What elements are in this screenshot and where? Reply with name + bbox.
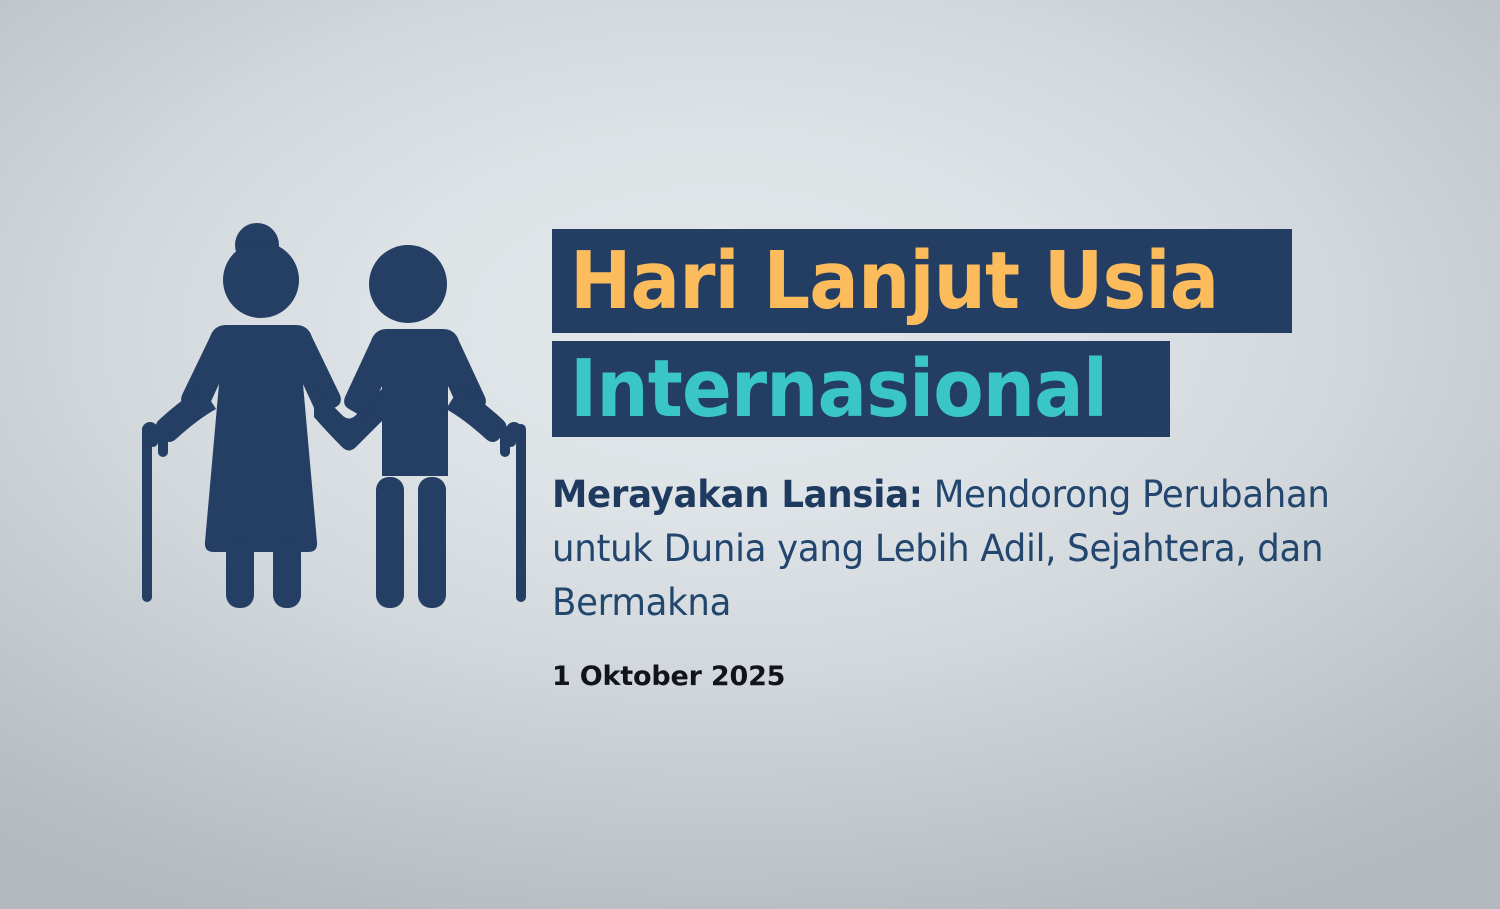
poster-canvas: Hari Lanjut Usia Internasional Merayakan… (0, 0, 1500, 909)
subtitle-text: Merayakan Lansia: Mendorong Perubahan un… (552, 468, 1349, 630)
elderly-couple-with-canes-icon (130, 215, 550, 625)
title-line-1-label: Hari Lanjut Usia (570, 242, 1218, 321)
title-banner-line-1: Hari Lanjut Usia (552, 229, 1292, 333)
cane-right-icon (500, 422, 526, 602)
subtitle-lead-label: Merayakan Lansia: (552, 473, 923, 516)
cane-left-icon (142, 422, 168, 602)
elderly-couple-illustration (130, 215, 550, 625)
title-line-2-label: Internasional (570, 350, 1107, 429)
title-banner-line-2: Internasional (552, 341, 1170, 437)
event-date-label: 1 Oktober 2025 (552, 663, 785, 690)
woman-figure (155, 223, 340, 608)
